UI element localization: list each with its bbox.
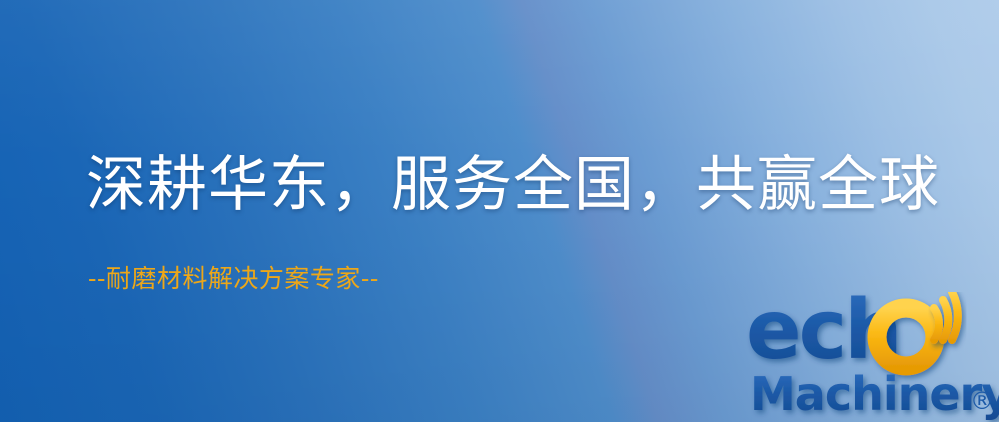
logo-tagline: Machinery [750, 367, 999, 421]
echo-waves-icon [934, 292, 958, 340]
banner-subtitle: --耐磨材料解决方案专家-- [88, 264, 379, 294]
registered-mark-icon: ® [970, 387, 994, 415]
hero-banner: 深耕华东，服务全国，共赢全球 --耐磨材料解决方案专家-- [0, 0, 999, 422]
svg-text:Machinery: Machinery [750, 367, 999, 421]
logo-o-ring-icon [877, 308, 935, 366]
banner-headline: 深耕华东，服务全国，共赢全球 [86, 152, 940, 219]
svg-text:®: ® [970, 387, 994, 415]
echo-machinery-logo[interactable]: ech Machinery ® [744, 292, 999, 422]
